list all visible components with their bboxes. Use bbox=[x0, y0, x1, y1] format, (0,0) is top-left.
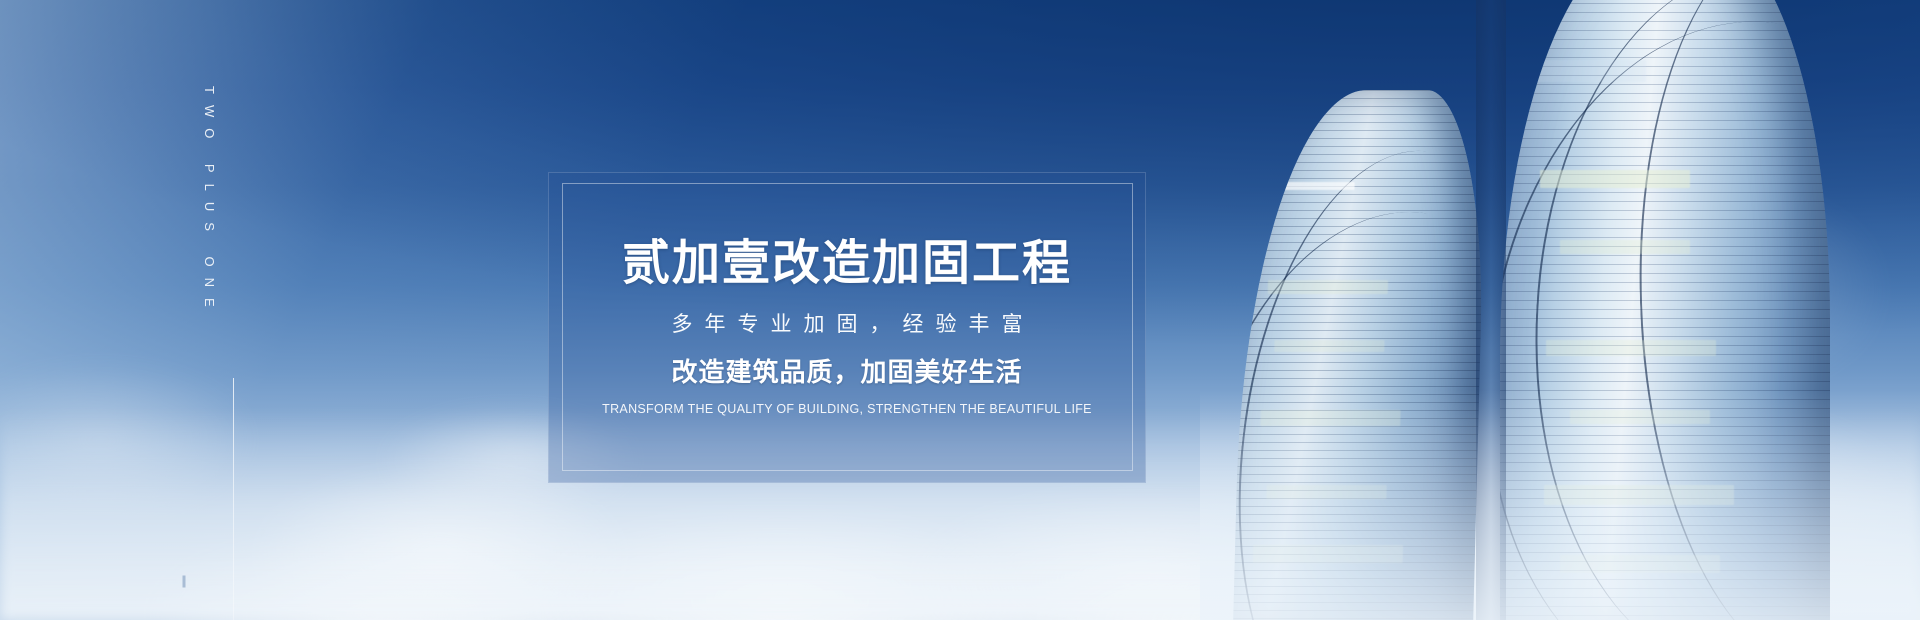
panel-subtitle: 多年专业加固，经验丰富 bbox=[660, 314, 1035, 335]
tower-floor-bands bbox=[1233, 90, 1487, 620]
skyscraper-photo-group bbox=[1200, 0, 1920, 620]
headline-panel: 贰加壹改造加固工程 多年专业加固，经验丰富 改造建筑品质，加固美好生活 TRAN… bbox=[548, 172, 1146, 483]
window-light bbox=[1570, 410, 1710, 424]
hero-banner: TWO PLUS ONE 贰加壹改造加固工程 多年专业加固，经验丰富 改造建筑品… bbox=[0, 0, 1920, 620]
window-light bbox=[1274, 340, 1384, 352]
window-light bbox=[1560, 240, 1690, 254]
tower-floor-bands bbox=[1500, 0, 1830, 620]
brand-rail: TWO PLUS ONE bbox=[233, 0, 234, 620]
window-light bbox=[1253, 545, 1403, 563]
tower-gap-shadow bbox=[1476, 0, 1506, 620]
window-light bbox=[1540, 170, 1690, 188]
brand-vertical-divider bbox=[233, 378, 234, 620]
window-light bbox=[1544, 485, 1734, 505]
brand-vertical-text: TWO PLUS ONE bbox=[202, 86, 217, 376]
panel-english-tagline: TRANSFORM THE QUALITY OF BUILDING, STREN… bbox=[602, 403, 1092, 416]
tower-back-icon bbox=[1500, 0, 1830, 620]
panel-content: 贰加壹改造加固工程 多年专业加固，经验丰富 改造建筑品质，加固美好生活 TRAN… bbox=[549, 173, 1145, 482]
window-light bbox=[1260, 410, 1400, 426]
window-light bbox=[1274, 182, 1354, 190]
window-light bbox=[1266, 485, 1386, 499]
window-light bbox=[1536, 60, 1646, 82]
panel-slogan: 改造建筑品质，加固美好生活 bbox=[671, 359, 1022, 385]
window-light bbox=[1268, 280, 1388, 294]
panel-title: 贰加壹改造加固工程 bbox=[622, 240, 1072, 288]
tower-front-icon bbox=[1233, 90, 1487, 620]
window-light bbox=[1560, 555, 1720, 573]
brand-tick-mark bbox=[183, 576, 186, 588]
window-light bbox=[1546, 340, 1716, 356]
